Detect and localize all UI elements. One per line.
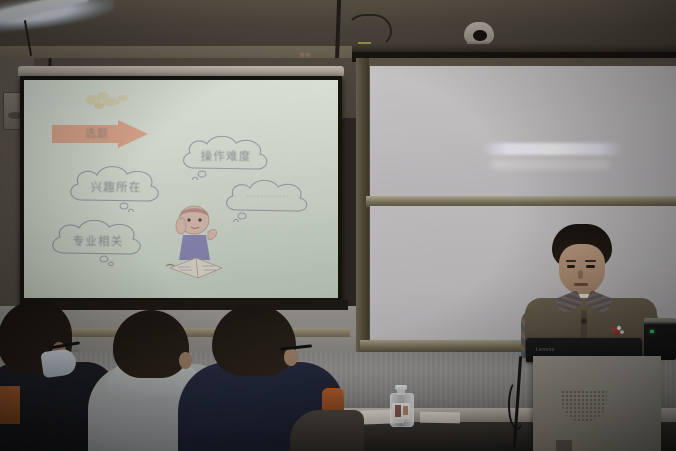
presenter-face	[559, 244, 605, 294]
presenter-nose	[578, 270, 583, 279]
student-reading-illustration-icon	[164, 202, 232, 286]
whiteboard-top-rail-shadow	[352, 44, 676, 52]
whiteboard-upper-panel[interactable]	[370, 66, 676, 197]
microphone-cable-loop	[508, 380, 526, 430]
paper-sheet-2[interactable]	[420, 412, 460, 424]
cloud-label-ellipsis: ············	[220, 192, 316, 201]
bottle-label	[392, 403, 410, 419]
presenter-jacket-button-1	[581, 318, 587, 324]
attendee-3-orange-item	[322, 388, 344, 412]
floral-decoration-icon	[79, 88, 141, 114]
camera-lens	[473, 30, 487, 41]
classroom-photo: 板书 选题	[0, 0, 676, 451]
presenter-eyebrow-left	[566, 260, 576, 262]
presenter-eye-right	[586, 265, 595, 268]
water-bottle[interactable]	[390, 385, 412, 425]
lectern-leg	[556, 440, 572, 451]
whiteboard-glare	[482, 143, 625, 155]
jacket-emblem-icon	[609, 324, 625, 338]
arrow-label: 选题	[70, 126, 124, 142]
cloud-label-major: 专业相关	[46, 233, 150, 249]
presenter-eye-left	[567, 265, 575, 268]
cloud-label-difficulty: 操作难度	[176, 148, 276, 164]
bottle-cap	[395, 385, 407, 390]
presenter-mouth	[574, 283, 588, 286]
laptop-brand-label: Lenovo	[536, 347, 555, 353]
cloud-label-interest: 兴趣所在	[64, 179, 168, 195]
monitor-power-led	[650, 330, 654, 333]
student-presenter	[521, 224, 661, 354]
presenter-eyebrow-right	[585, 260, 596, 262]
whiteboard-left-rail	[356, 58, 369, 358]
chair-back	[290, 410, 364, 451]
whiteboard-glare-soft	[490, 160, 610, 169]
attendee-1-orange-item	[0, 386, 20, 424]
attendee-3-head	[212, 304, 296, 376]
light-tube	[0, 0, 89, 23]
attendee-3-ear	[284, 348, 298, 366]
attendee-2-head	[113, 310, 189, 378]
side-monitor[interactable]	[644, 318, 676, 360]
projection-screen[interactable]: 选题 操作难度 兴趣所在 ············ 专业相关	[24, 80, 338, 298]
